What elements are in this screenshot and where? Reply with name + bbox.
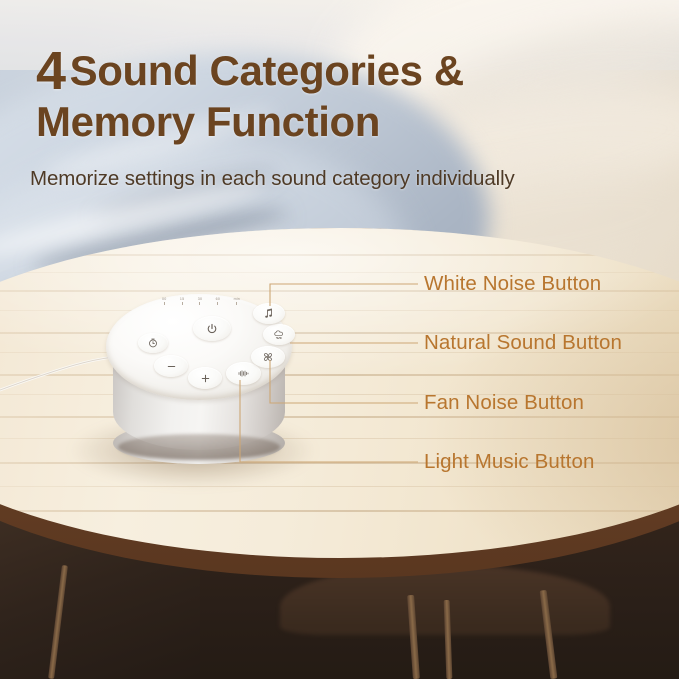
timer-tick: 15: [180, 297, 184, 305]
music-note-icon: [264, 308, 274, 319]
volume-down-button[interactable]: [154, 355, 188, 377]
clock-icon: [148, 338, 158, 348]
callout-label-fan-noise: Fan Noise Button: [424, 391, 584, 415]
timer-tick-label: 60: [216, 297, 220, 301]
timer-tick: min: [234, 297, 240, 305]
sound-wave-icon: [237, 368, 250, 379]
timer-button[interactable]: [138, 333, 168, 353]
headline-line1: Sound Categories &: [70, 47, 464, 94]
power-button[interactable]: [193, 316, 231, 341]
device-foot-shadow: [118, 434, 280, 460]
natural-sound-button[interactable]: [263, 324, 295, 345]
callout-label-natural-sound: Natural Sound Button: [424, 331, 622, 355]
white-noise-machine: 00 15 30 60 min: [96, 294, 306, 494]
power-icon: [206, 323, 218, 335]
headline-number: 4: [36, 41, 66, 101]
timer-tick-label: 15: [180, 297, 184, 301]
fan-icon: [262, 351, 274, 363]
nature-cloud-icon: [273, 330, 285, 340]
headline-line2: Memory Function: [36, 98, 380, 145]
timer-tick-label: min: [234, 297, 240, 301]
plus-icon: [200, 373, 211, 384]
page-subtitle: Memorize settings in each sound category…: [30, 167, 630, 191]
timer-tick-label: 30: [198, 297, 202, 301]
timer-tick: 00: [162, 297, 166, 305]
minus-icon: [166, 361, 177, 372]
white-noise-button[interactable]: [253, 303, 285, 324]
callout-label-white-noise: White Noise Button: [424, 272, 601, 296]
fan-noise-button[interactable]: [251, 346, 285, 368]
timer-tick: 60: [216, 297, 220, 305]
timer-tick: 30: [198, 297, 202, 305]
timer-scale: 00 15 30 60 min: [162, 297, 240, 312]
product-feature-image: 00 15 30 60 min: [0, 0, 679, 679]
callout-label-light-music: Light Music Button: [424, 450, 594, 474]
page-title: 4Sound Categories & Memory Function: [36, 44, 596, 147]
timer-tick-label: 00: [162, 297, 166, 301]
volume-up-button[interactable]: [188, 367, 222, 389]
light-music-button[interactable]: [226, 362, 261, 385]
